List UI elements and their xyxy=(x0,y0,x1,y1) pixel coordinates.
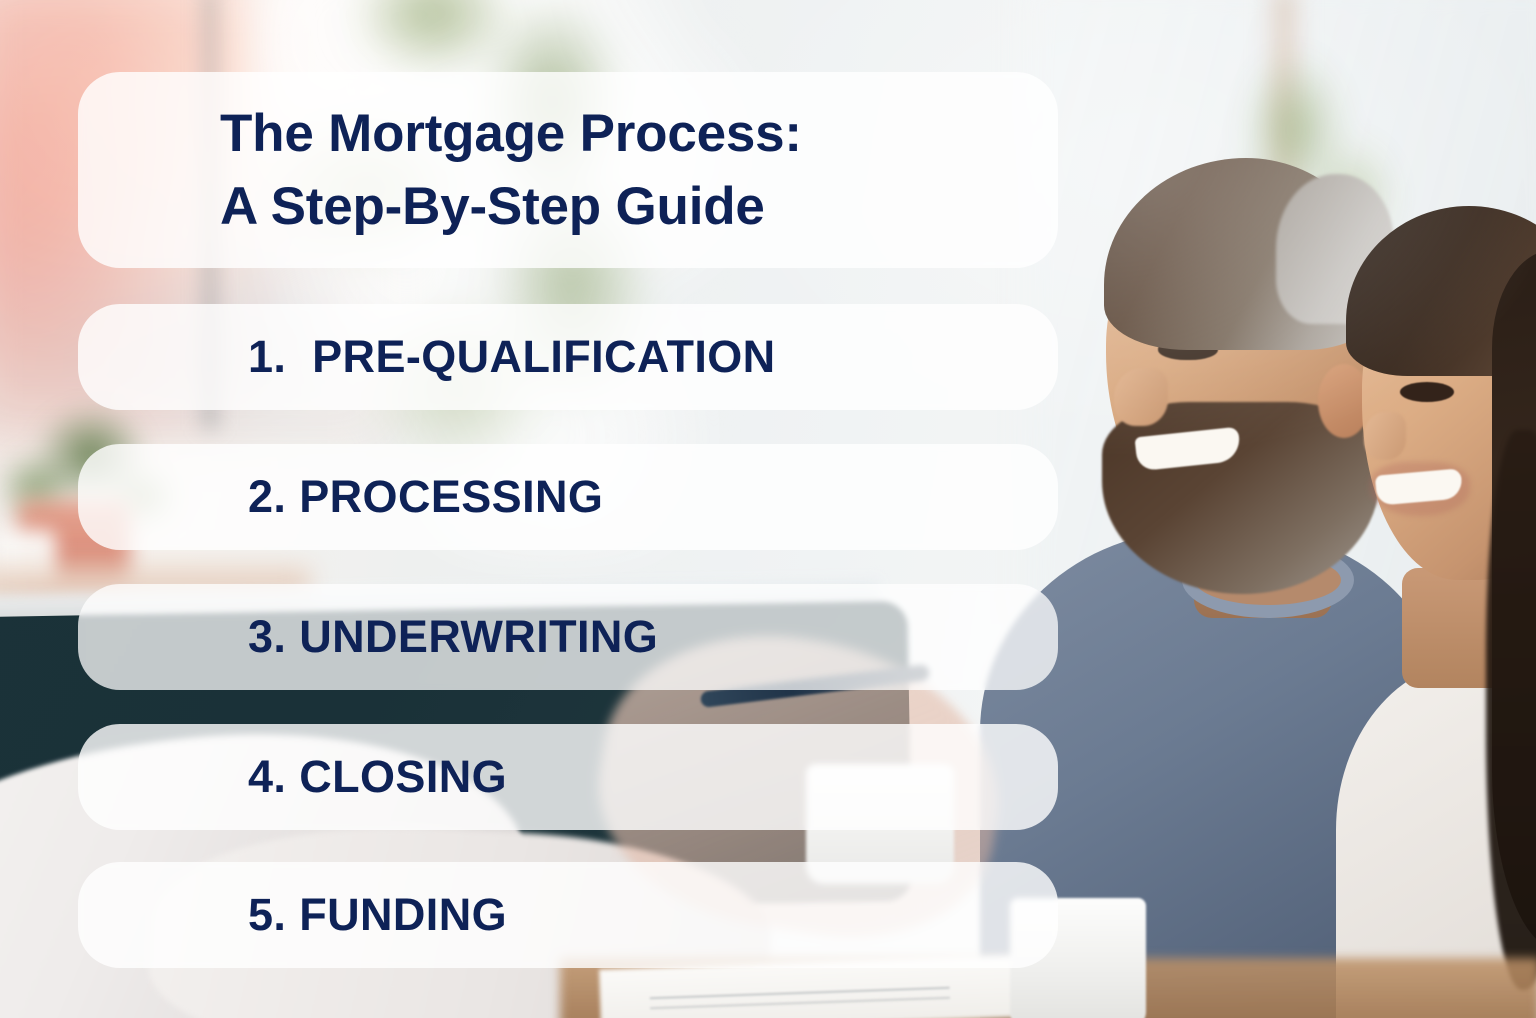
step-card-1: 1. PRE-QUALIFICATION xyxy=(78,304,1058,410)
step-label-3: 3. UNDERWRITING xyxy=(248,611,658,663)
step-label-1: 1. PRE-QUALIFICATION xyxy=(248,331,776,383)
step-label-2: 2. PROCESSING xyxy=(248,471,603,523)
step-card-2: 2. PROCESSING xyxy=(78,444,1058,550)
page-title: The Mortgage Process: A Step-By-Step Gui… xyxy=(220,97,802,243)
overlay-cards: The Mortgage Process: A Step-By-Step Gui… xyxy=(0,0,1536,1018)
step-label-4: 4. CLOSING xyxy=(248,751,507,803)
step-card-3: 3. UNDERWRITING xyxy=(78,584,1058,690)
step-card-4: 4. CLOSING xyxy=(78,724,1058,830)
step-label-5: 5. FUNDING xyxy=(248,889,507,941)
mortgage-process-graphic: The Mortgage Process: A Step-By-Step Gui… xyxy=(0,0,1536,1018)
step-card-5: 5. FUNDING xyxy=(78,862,1058,968)
title-card: The Mortgage Process: A Step-By-Step Gui… xyxy=(78,72,1058,268)
